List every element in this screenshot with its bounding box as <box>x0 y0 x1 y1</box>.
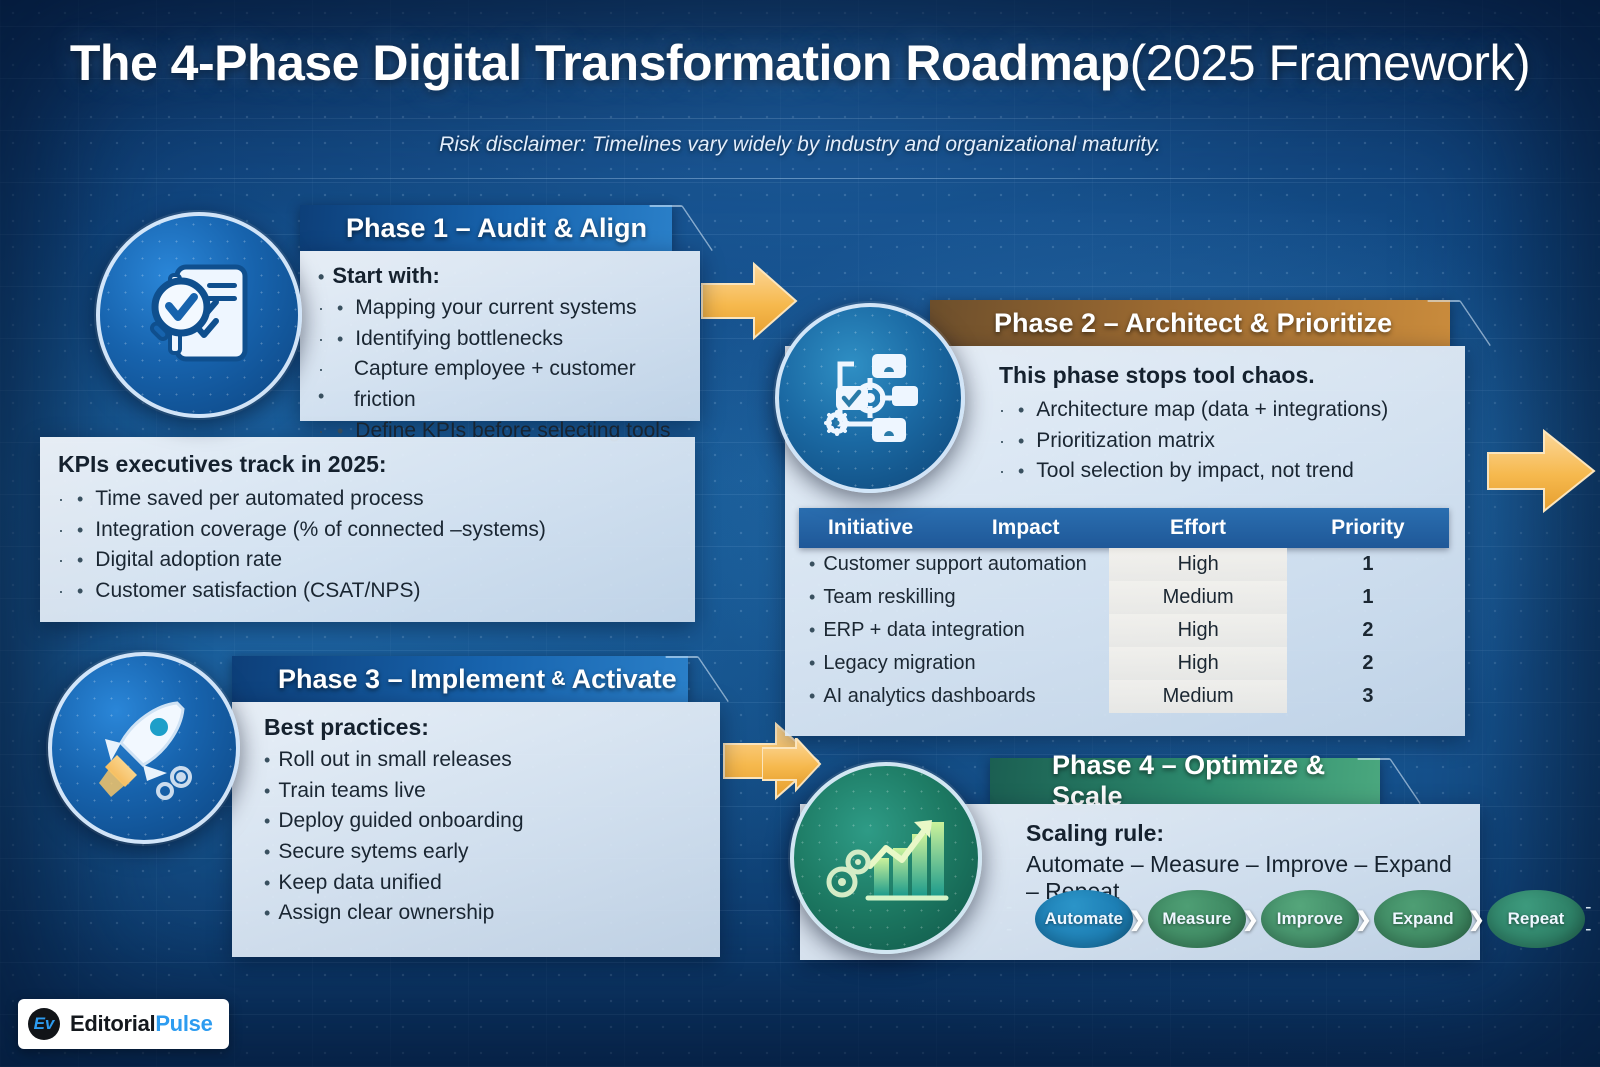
phase-3-header-bar[interactable]: Phase 3 – Implement & Activate <box>232 656 688 702</box>
phase-1-panel: •Start with: Mapping your current system… <box>300 251 700 421</box>
chip-arrow-icon: ❯ <box>1129 907 1146 932</box>
chip-arrow-icon: ❯ <box>1468 907 1485 932</box>
list-item: Prioritization matrix <box>999 426 1453 457</box>
table-col-initiative: Initiative <box>799 516 942 540</box>
table-cell-effort: Medium <box>1109 581 1286 614</box>
table-row: •Legacy migration High 2 <box>799 647 1449 680</box>
bullet-icon <box>58 547 87 573</box>
list-item: Architecture map (data + integrations) <box>999 395 1453 426</box>
bullet-icon: • <box>809 554 815 575</box>
chip-automate[interactable]: Automate <box>1035 890 1133 948</box>
table-cell-priority: 1 <box>1287 586 1449 609</box>
bullet-icon <box>318 326 347 352</box>
table-cell-priority: 2 <box>1287 652 1449 675</box>
phase-3-icon-circle <box>48 652 240 844</box>
kpi-list: Time saved per automated process Integra… <box>58 484 677 607</box>
table-cell-initiative: •ERP + data integration <box>799 619 1109 642</box>
phase-1-lead-bullet: • <box>318 267 324 287</box>
phase-3-heading-amp: & <box>551 668 565 691</box>
phase-3-lead: Best practices: <box>264 714 706 741</box>
list-item: Customer satisfaction (CSAT/NPS) <box>58 576 677 607</box>
table-row: •AI analytics dashboards Medium 3 <box>799 680 1449 713</box>
logo-text: EditorialPulse <box>70 1011 213 1037</box>
phase-2-lead: This phase stops tool chaos. <box>999 362 1453 389</box>
list-item: Mapping your current systems <box>318 293 686 324</box>
list-item: •Roll out in small releases <box>264 745 706 776</box>
phase-1-bullet-list: Mapping your current systems Identifying… <box>318 293 686 446</box>
list-item: Time saved per automated process <box>58 484 677 515</box>
table-cell-effort: High <box>1109 548 1286 581</box>
phase-2-icon-circle <box>775 303 965 493</box>
bullet-icon: • <box>264 747 270 773</box>
bullet-icon <box>58 517 87 543</box>
bullet-icon <box>58 486 87 512</box>
phase-1-icon-circle <box>96 212 302 418</box>
list-item: Identifying bottlenecks <box>318 324 686 355</box>
prioritization-table: Initiative Impact Effort Priority •Custo… <box>799 508 1449 713</box>
list-item: Tool selection by impact, not trend <box>999 456 1453 487</box>
page-title: The 4-Phase Digital Transformation Roadm… <box>0 34 1600 92</box>
list-item: •Deploy guided onboarding <box>264 806 706 837</box>
phase-3-heading-a: Phase 3 – Implement <box>278 664 545 695</box>
chip-measure[interactable]: Measure <box>1148 890 1246 948</box>
table-cell-priority: 1 <box>1287 553 1449 576</box>
list-item: •Assign clear ownership <box>264 898 706 929</box>
bullet-icon <box>999 397 1028 423</box>
arrow-phase2-to-right <box>1486 425 1600 517</box>
list-item: Digital adoption rate <box>58 545 677 576</box>
chip-arrow-icon: ❯ <box>1355 907 1372 932</box>
rocket-launch-icon <box>81 685 207 811</box>
bullet-icon: • <box>809 620 815 641</box>
phase-3-bullet-list: •Roll out in small releases •Train teams… <box>264 745 706 929</box>
table-cell-initiative: •AI analytics dashboards <box>799 685 1109 708</box>
table-cell-initiative: •Team reskilling <box>799 586 1109 609</box>
growth-chart-gears-icon <box>822 794 950 922</box>
document-magnifier-checklist-icon <box>137 253 261 377</box>
phase-4-lead: Scaling rule: <box>1026 820 1470 847</box>
chip-expand[interactable]: Expand <box>1374 890 1472 948</box>
table-row: •Team reskilling Medium 1 <box>799 581 1449 614</box>
table-col-priority: Priority <box>1287 516 1449 540</box>
phase-2-bullet-list: Architecture map (data + integrations) P… <box>999 395 1453 487</box>
page-title-main: The 4-Phase Digital Transformation Roadm… <box>70 35 1130 91</box>
phase-4-header-bar[interactable]: Phase 4 – Optimize & Scale <box>990 758 1380 804</box>
bullet-icon: • <box>264 839 270 865</box>
phase-1-header-bar[interactable]: Phase 1 – Audit & Align <box>300 205 672 251</box>
brand-logo[interactable]: Ev EditorialPulse <box>18 999 229 1049</box>
logo-mark-icon: Ev <box>28 1008 60 1040</box>
chip-dash-left: - - <box>1006 897 1029 941</box>
bullet-icon: • <box>264 808 270 834</box>
bullet-icon: • <box>809 653 815 674</box>
phase-4-icon-circle <box>790 762 982 954</box>
bullet-icon <box>318 295 347 321</box>
list-item: Capture employee + customer friction <box>318 354 686 415</box>
table-header-row: Initiative Impact Effort Priority <box>799 508 1449 548</box>
table-cell-initiative: •Customer support automation <box>799 553 1109 576</box>
bullet-icon: • <box>264 778 270 804</box>
phase-3-panel: Best practices: •Roll out in small relea… <box>232 702 720 957</box>
table-row: •ERP + data integration High 2 <box>799 614 1449 647</box>
list-item: •Secure sytems early <box>264 837 706 868</box>
bullet-icon <box>999 428 1028 454</box>
bullet-icon: • <box>809 686 815 707</box>
phase-4-chip-row: - - Automate ❯ Measure ❯ Improve ❯ Expan… <box>1006 890 1600 948</box>
phase-3-heading-b: Activate <box>572 664 677 695</box>
table-cell-priority: 2 <box>1287 619 1449 642</box>
table-cell-effort: High <box>1109 647 1286 680</box>
phase-4-heading: Phase 4 – Optimize & Scale <box>1052 750 1380 812</box>
bullet-icon: • <box>809 587 815 608</box>
page-subtitle: Risk disclaimer: Timelines vary widely b… <box>0 133 1600 157</box>
bullet-icon <box>999 458 1028 484</box>
chip-arrow-icon: ❯ <box>1242 907 1259 932</box>
list-item: Integration coverage (% of connected –sy… <box>58 515 677 546</box>
logo-text-accent: Pulse <box>155 1011 212 1036</box>
bullet-icon: • <box>264 870 270 896</box>
bullet-icon <box>58 578 87 604</box>
table-cell-priority: 3 <box>1287 685 1449 708</box>
table-col-impact: Impact <box>942 516 1109 540</box>
page-title-suffix: (2025 Framework) <box>1130 35 1530 91</box>
kpi-box-lead: KPIs executives track in 2025: <box>58 451 677 478</box>
chip-dash-right: - - <box>1585 897 1600 941</box>
table-body: •Customer support automation High 1 •Tea… <box>799 548 1449 713</box>
table-cell-effort: Medium <box>1109 680 1286 713</box>
list-item: •Keep data unified <box>264 868 706 899</box>
table-row: •Customer support automation High 1 <box>799 548 1449 581</box>
phase-1-lead: •Start with: <box>318 263 686 289</box>
table-col-effort: Effort <box>1109 516 1287 540</box>
phase-1-heading: Phase 1 – Audit & Align <box>346 213 647 244</box>
table-cell-initiative: •Legacy migration <box>799 652 1109 675</box>
phase-2-heading: Phase 2 – Architect & Prioritize <box>994 308 1392 339</box>
architecture-network-nodes-icon <box>810 338 930 458</box>
list-item: •Train teams live <box>264 776 706 807</box>
bullet-icon: • <box>264 900 270 926</box>
kpi-box: KPIs executives track in 2025: Time save… <box>40 437 695 622</box>
chip-repeat[interactable]: Repeat <box>1487 890 1585 948</box>
logo-text-primary: Editorial <box>70 1011 155 1036</box>
table-cell-effort: High <box>1109 614 1286 647</box>
chip-improve[interactable]: Improve <box>1261 890 1359 948</box>
phase-2-header-bar[interactable]: Phase 2 – Architect & Prioritize <box>930 300 1450 346</box>
bullet-icon <box>318 356 346 409</box>
